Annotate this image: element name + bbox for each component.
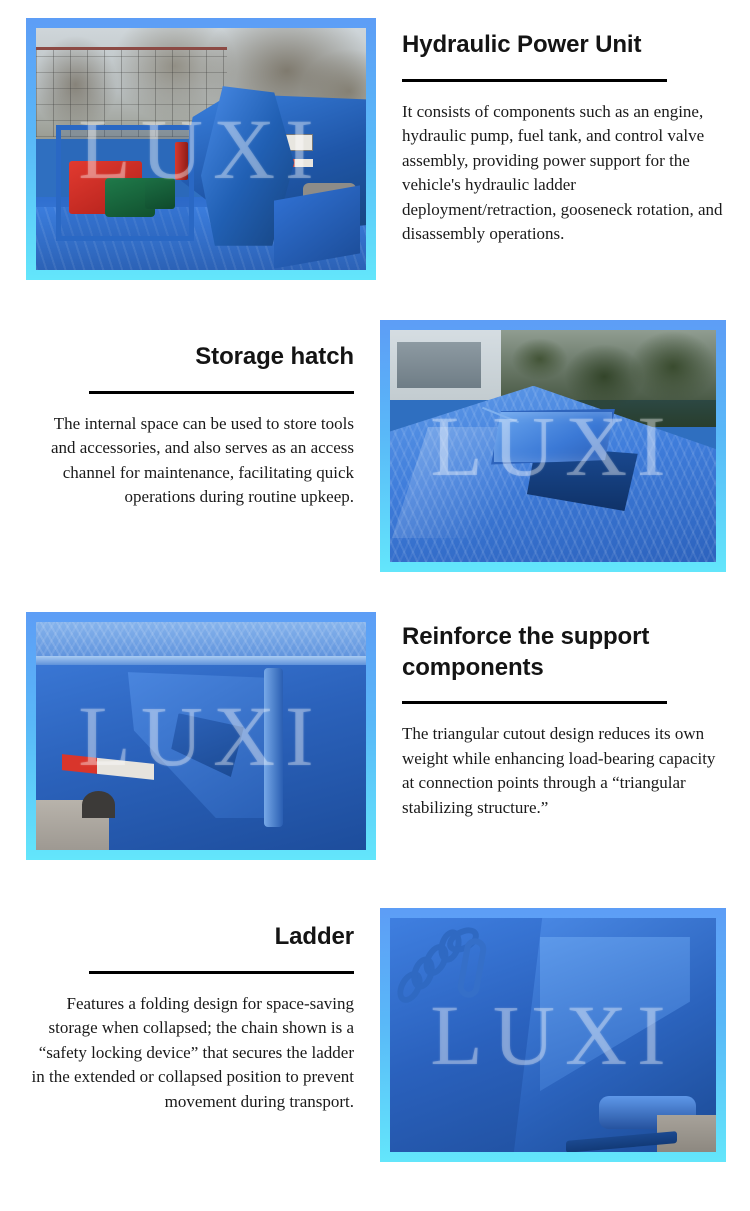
feature-title-1: Hydraulic Power Unit bbox=[402, 30, 726, 61]
feature-image-1: LUXI bbox=[36, 28, 366, 270]
feature-text-4: Ladder Features a folding design for spa… bbox=[26, 908, 380, 1114]
photo1-ramp-flap bbox=[274, 185, 360, 268]
feature-image-2: LUXI bbox=[390, 330, 716, 562]
photo-support-bracket bbox=[36, 622, 366, 850]
feature-divider-3 bbox=[402, 701, 667, 704]
feature-text-3: Reinforce the support components The tri… bbox=[376, 612, 726, 820]
feature-block-reinforce-support-components: LUXI Reinforce the support components Th… bbox=[26, 612, 726, 860]
feature-title-3: Reinforce the support components bbox=[402, 622, 726, 683]
page-root: LUXI Hydraulic Power Unit It consists of… bbox=[0, 0, 750, 1211]
photo-storage-hatch bbox=[390, 330, 716, 562]
feature-block-ladder: LUXI Ladder Features a folding design fo… bbox=[26, 908, 726, 1162]
photo4-safety-chain bbox=[397, 923, 508, 1035]
feature-image-frame-2: LUXI bbox=[380, 320, 726, 572]
feature-image-frame-4: LUXI bbox=[380, 908, 726, 1162]
feature-block-hydraulic-power-unit: LUXI Hydraulic Power Unit It consists of… bbox=[26, 18, 726, 280]
feature-text-1: Hydraulic Power Unit It consists of comp… bbox=[376, 18, 726, 247]
photo3-deck-plate bbox=[36, 622, 366, 658]
feature-title-4: Ladder bbox=[26, 922, 354, 953]
photo3-tire bbox=[82, 791, 115, 818]
feature-image-4: LUXI bbox=[390, 918, 716, 1152]
feature-block-storage-hatch: LUXI Storage hatch The internal space ca… bbox=[26, 320, 726, 572]
feature-body-4: Features a folding design for space-savi… bbox=[26, 992, 354, 1115]
feature-image-3: LUXI bbox=[36, 622, 366, 850]
photo-ladder bbox=[390, 918, 716, 1152]
feature-divider-1 bbox=[402, 79, 667, 82]
feature-text-2: Storage hatch The internal space can be … bbox=[26, 320, 380, 510]
feature-title-2: Storage hatch bbox=[26, 342, 354, 373]
feature-body-2: The internal space can be used to store … bbox=[26, 412, 354, 510]
feature-body-3: The triangular cutout design reduces its… bbox=[402, 722, 726, 820]
photo-hydraulic-power-unit bbox=[36, 28, 366, 270]
feature-divider-4 bbox=[89, 971, 354, 974]
photo1-motor bbox=[145, 178, 175, 209]
feature-image-frame-1: LUXI bbox=[26, 18, 376, 280]
photo3-deck-edge bbox=[36, 656, 366, 665]
feature-body-1: It consists of components such as an eng… bbox=[402, 100, 726, 247]
photo3-vertical-post bbox=[264, 668, 284, 828]
feature-divider-2 bbox=[89, 391, 354, 394]
photo2-building bbox=[397, 342, 482, 388]
photo1-cylinder bbox=[175, 142, 188, 181]
feature-image-frame-3: LUXI bbox=[26, 612, 376, 860]
